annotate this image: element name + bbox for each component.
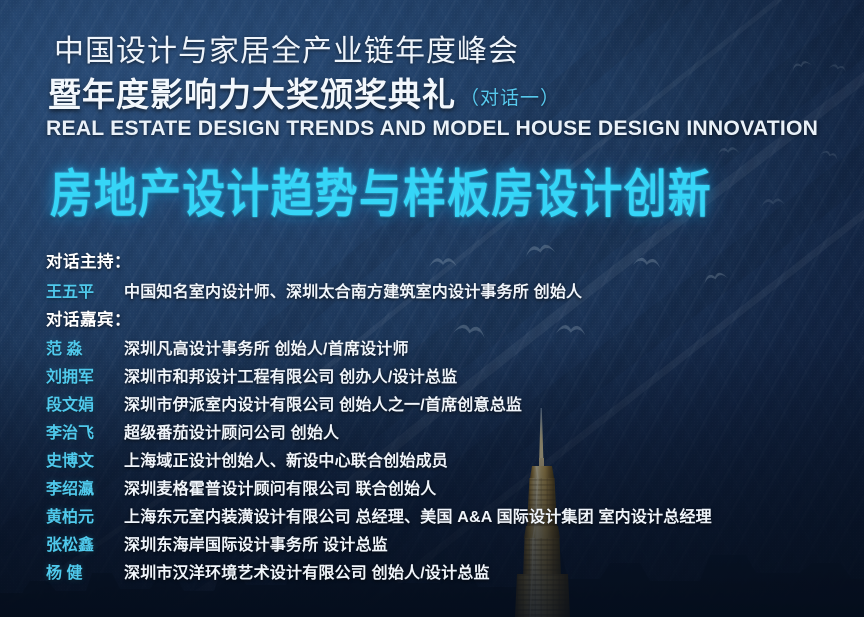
poster-canvas: 中国设计与家居全产业链年度峰会 暨年度影响力大奖颁奖典礼 （对话一） REAL … [0, 0, 864, 617]
guest-name: 史博文 [46, 447, 124, 471]
list-item: 刘拥军 深圳市和邦设计工程有限公司 创办人/设计总监 [46, 363, 864, 387]
host-description: 中国知名室内设计师、深圳太合南方建筑室内设计事务所 创始人 [124, 278, 582, 302]
guest-description: 深圳麦格霍普设计顾问有限公司 联合创始人 [124, 475, 436, 499]
guest-name: 杨 健 [46, 559, 124, 583]
list-item: 李绍瀛 深圳麦格霍普设计顾问有限公司 联合创始人 [46, 475, 864, 499]
guest-name: 刘拥军 [46, 363, 124, 387]
summit-subtitle-line1: 中国设计与家居全产业链年度峰会 [54, 26, 519, 70]
guest-description: 深圳东海岸国际设计事务所 设计总监 [124, 531, 388, 555]
guest-name: 范 淼 [46, 335, 124, 359]
host-name: 王五平 [46, 278, 124, 302]
list-item: 范 淼 深圳凡高设计事务所 创始人/首席设计师 [46, 335, 864, 359]
guest-name: 李治飞 [46, 419, 124, 443]
english-subtitle: REAL ESTATE DESIGN TRENDS AND MODEL HOUS… [46, 116, 818, 141]
host-row: 王五平 中国知名室内设计师、深圳太合南方建筑室内设计事务所 创始人 [46, 278, 864, 302]
list-item: 李治飞 超级番茄设计顾问公司 创始人 [46, 419, 864, 443]
guest-description: 深圳市和邦设计工程有限公司 创办人/设计总监 [124, 363, 457, 387]
guest-description: 深圳市伊派室内设计有限公司 创始人之一/首席创意总监 [124, 391, 522, 415]
guest-description: 深圳凡高设计事务所 创始人/首席设计师 [124, 335, 409, 359]
guest-name: 张松鑫 [46, 531, 124, 555]
guest-description: 超级番茄设计顾问公司 创始人 [124, 419, 339, 443]
guest-description: 上海东元室内装潢设计有限公司 总经理、美国 A&A 国际设计集团 室内设计总经理 [124, 503, 712, 527]
page-title: 房地产设计趋势与样板房设计创新 [50, 152, 712, 228]
host-section-label: 对话主持： [46, 248, 131, 272]
summit-subtitle-line2: 暨年度影响力大奖颁奖典礼 （对话一） [48, 68, 560, 116]
list-item: 张松鑫 深圳东海岸国际设计事务所 设计总监 [46, 531, 864, 555]
list-item: 黄柏元 上海东元室内装潢设计有限公司 总经理、美国 A&A 国际设计集团 室内设… [46, 503, 864, 527]
guest-name: 黄柏元 [46, 503, 124, 527]
session-tag: （对话一） [460, 83, 560, 110]
award-ceremony-text: 暨年度影响力大奖颁奖典礼 [48, 68, 456, 116]
guest-description: 深圳市汉洋环境艺术设计有限公司 创始人/设计总监 [124, 559, 490, 583]
guest-section-label: 对话嘉宾： [46, 306, 131, 330]
list-item: 段文娟 深圳市伊派室内设计有限公司 创始人之一/首席创意总监 [46, 391, 864, 415]
list-item: 杨 健 深圳市汉洋环境艺术设计有限公司 创始人/设计总监 [46, 559, 864, 583]
poster-content: 中国设计与家居全产业链年度峰会 暨年度影响力大奖颁奖典礼 （对话一） REAL … [0, 0, 864, 617]
list-item: 史博文 上海域正设计创始人、新设中心联合创始成员 [46, 447, 864, 471]
guest-name: 段文娟 [46, 391, 124, 415]
guest-name: 李绍瀛 [46, 475, 124, 499]
guest-description: 上海域正设计创始人、新设中心联合创始成员 [124, 447, 448, 471]
